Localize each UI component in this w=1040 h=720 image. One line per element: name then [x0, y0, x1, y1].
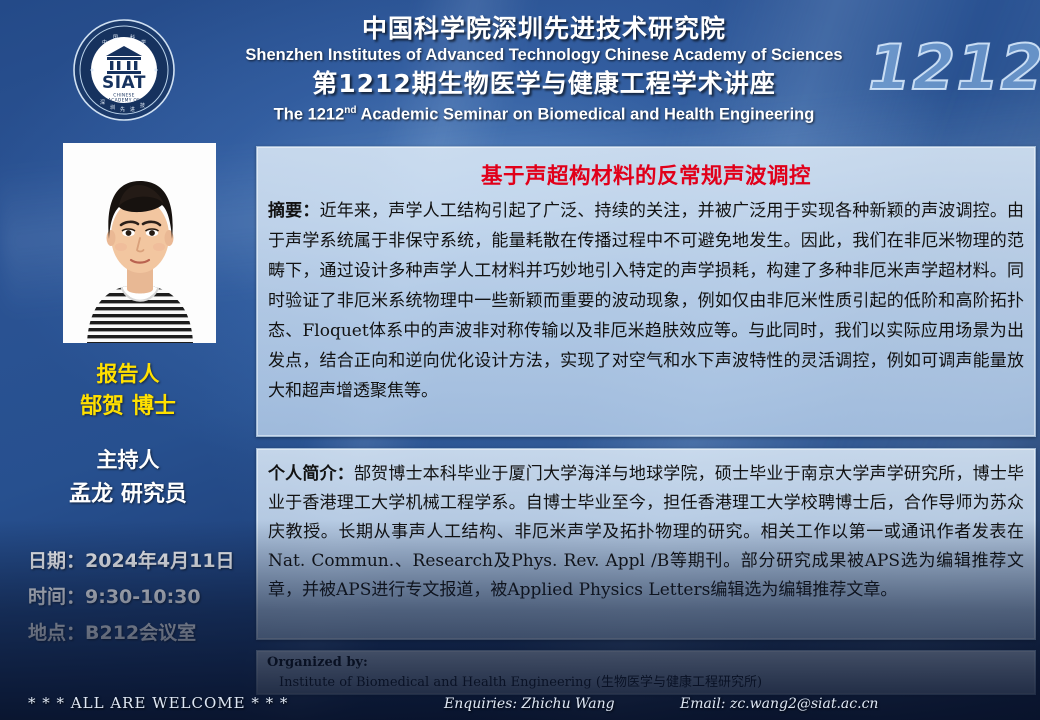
organizer-panel: Organized by: Institute of Biomedical an…: [256, 650, 1036, 695]
svg-text:技: 技: [140, 102, 145, 109]
abstract-label: 摘要：: [268, 201, 320, 221]
institute-name-cn: 中国科学院深圳先进技术研究院: [186, 14, 902, 44]
seminar-poster: SIAT CHINESE ACADEMY OF SCIENCES 中国 科学 深…: [0, 0, 1040, 720]
seminar-series-ordinal: nd: [344, 105, 356, 116]
organizer-name: Institute of Biomedical and Health Engin…: [257, 670, 1035, 690]
svg-text:圳: 圳: [110, 104, 115, 111]
svg-text:进: 进: [130, 106, 135, 113]
abstract-panel: 基于声超构材料的反常规声波调控 摘要：近年来，声学人工结构引起了广泛、持续的关注…: [256, 146, 1036, 437]
enquiries-contact: Enquiries: Zhichu Wang: [444, 696, 615, 712]
speaker-role-label: 报告人: [0, 358, 256, 388]
poster-header: 中国科学院深圳先进技术研究院 Shenzhen Institutes of Ad…: [186, 14, 902, 126]
biography-label: 个人简介：: [268, 464, 354, 484]
host-name: 孟龙 研究员: [0, 476, 256, 508]
svg-text:学: 学: [141, 39, 146, 46]
event-date: 日期：2024年4月11日: [28, 546, 235, 573]
welcome-note: * * * ALL ARE WELCOME * * *: [28, 694, 288, 712]
biography-text: 个人简介：郜贺博士本科毕业于厦门大学海洋与地球学院，硕士毕业于南京大学声学研究所…: [257, 449, 1035, 605]
svg-text:科: 科: [130, 34, 135, 41]
speaker-name: 郜贺 博士: [0, 388, 256, 420]
biography-body: 郜贺博士本科毕业于厦门大学海洋与地球学院，硕士毕业于南京大学声学研究所，博士毕业…: [268, 464, 1024, 600]
institute-name-en: Shenzhen Institutes of Advanced Technolo…: [186, 44, 902, 66]
siat-logo: SIAT CHINESE ACADEMY OF SCIENCES 中国 科学 深…: [72, 18, 176, 122]
biography-panel: 个人简介：郜贺博士本科毕业于厦门大学海洋与地球学院，硕士毕业于南京大学声学研究所…: [256, 448, 1036, 640]
abstract-text: 摘要：近年来，声学人工结构引起了广泛、持续的关注，并被广泛用于实现各种新颖的声波…: [257, 196, 1035, 406]
svg-text:深: 深: [100, 99, 105, 106]
svg-text:先: 先: [120, 106, 125, 113]
svg-text:SIAT: SIAT: [102, 73, 146, 93]
svg-text:中: 中: [102, 39, 107, 46]
seminar-series-en-pre: The 1212: [274, 106, 345, 124]
speaker-photo: [63, 143, 216, 343]
svg-text:国: 国: [113, 35, 118, 41]
event-venue: 地点：B212会议室: [28, 618, 196, 645]
seminar-series-en: The 1212nd Academic Seminar on Biomedica…: [186, 100, 902, 126]
event-time: 时间：9:30-10:30: [28, 582, 201, 609]
seminar-series-cn: 第1212期生物医学与健康工程学术讲座: [186, 68, 902, 100]
organized-by-label: Organized by:: [257, 651, 1035, 670]
talk-title: 基于声超构材料的反常规声波调控: [257, 159, 1035, 190]
seminar-series-en-post: Academic Seminar on Biomedical and Healt…: [357, 106, 815, 124]
host-role-label: 主持人: [0, 444, 256, 474]
enquiries-email: Email: zc.wang2@siat.ac.cn: [680, 696, 878, 712]
abstract-body: 近年来，声学人工结构引起了广泛、持续的关注，并被广泛用于实现各种新颖的声波调控。…: [268, 201, 1024, 401]
